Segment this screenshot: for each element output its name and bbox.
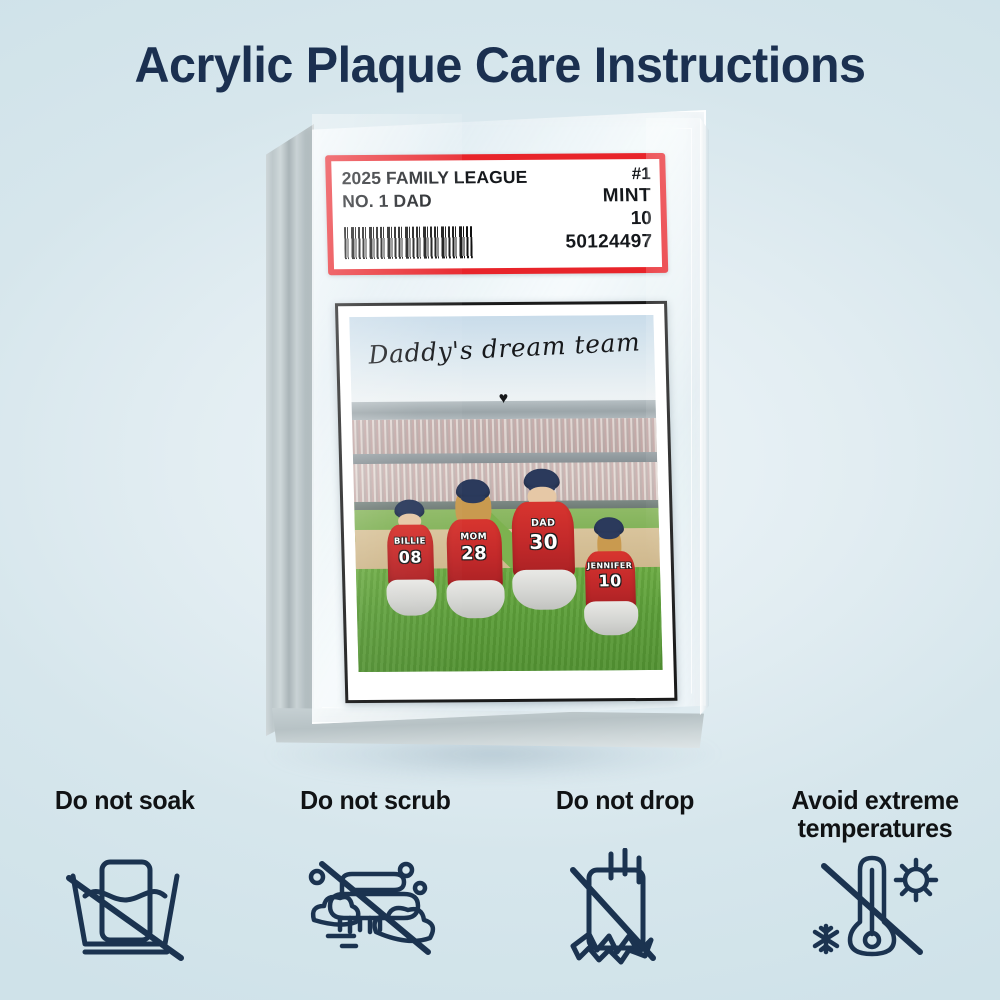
care-item-do-not-soak: Do not soak [0, 786, 250, 1000]
baseball-cap-icon [593, 517, 624, 536]
figure-jennifer: JENNIFER 10 [576, 513, 643, 639]
grading-label-right-column: #1 MINT 10 50124497 [500, 164, 652, 254]
jersey-number: 10 [598, 571, 622, 590]
grading-grade-score: 10 [502, 207, 653, 231]
figure-billie: BILLIE 08 [378, 498, 443, 640]
page-title: Acrylic Plaque Care Instructions [15, 36, 985, 94]
no-extreme-temperature-icon [800, 848, 950, 966]
baseball-cap-icon [455, 479, 490, 500]
care-label: Do not soak [55, 786, 195, 844]
jersey-name: DAD [531, 518, 556, 529]
acrylic-block: 2025 FAMILY LEAGUE NO. 1 DAD #1 MINT 10 … [266, 110, 706, 746]
care-item-do-not-drop: Do not drop [500, 786, 750, 1000]
grading-serial-number: 50124497 [502, 230, 653, 254]
grading-label: 2025 FAMILY LEAGUE NO. 1 DAD #1 MINT 10 … [325, 153, 668, 275]
care-label: Avoid extreme temperatures [755, 786, 995, 844]
care-label: Do not drop [556, 786, 694, 844]
jersey-name: BILLIE [394, 537, 426, 547]
card-artwork: Daddy's dream team ♥ BILLIE 08 [349, 315, 662, 672]
no-scrub-icon [300, 848, 450, 968]
acrylic-plaque: 2025 FAMILY LEAGUE NO. 1 DAD #1 MINT 10 … [258, 104, 748, 784]
grading-label-line2: NO. 1 DAD [342, 191, 432, 213]
card-mat: Daddy's dream team ♥ BILLIE 08 [338, 304, 674, 700]
care-label: Do not scrub [300, 786, 450, 844]
plaque-insert: 2025 FAMILY LEAGUE NO. 1 DAD #1 MINT 10 … [316, 119, 700, 717]
jersey-number: 28 [461, 543, 488, 564]
grading-rank: #1 [500, 164, 651, 185]
care-item-avoid-extreme-temperatures: Avoid extreme temperatures [750, 786, 1000, 1000]
card-frame: Daddy's dream team ♥ BILLIE 08 [335, 301, 678, 703]
figure-pants [386, 580, 437, 616]
family-figures: BILLIE 08 MOM 28 [352, 436, 661, 640]
jersey-number: 08 [398, 548, 422, 567]
jersey-name: JENNIFER [587, 561, 632, 570]
jersey-name: MOM [460, 532, 487, 542]
figure-pants [446, 580, 505, 618]
figure-pants [512, 570, 577, 610]
care-item-do-not-scrub: Do not scrub [250, 786, 500, 1000]
grading-grade-word: MINT [501, 184, 652, 208]
figure-pants [584, 601, 639, 635]
no-soak-icon [55, 848, 195, 968]
care-instructions-row: Do not soak Do not scrub [0, 786, 1000, 1000]
acrylic-right-edge [700, 112, 709, 718]
acrylic-left-edge [266, 124, 314, 736]
jersey-number: 30 [529, 530, 558, 554]
heart-icon: ♥ [351, 390, 655, 408]
barcode-icon [344, 226, 473, 259]
no-drop-icon [555, 848, 695, 973]
figure-dad: DAD 30 [505, 469, 582, 639]
figure-mom: MOM 28 [439, 477, 510, 639]
